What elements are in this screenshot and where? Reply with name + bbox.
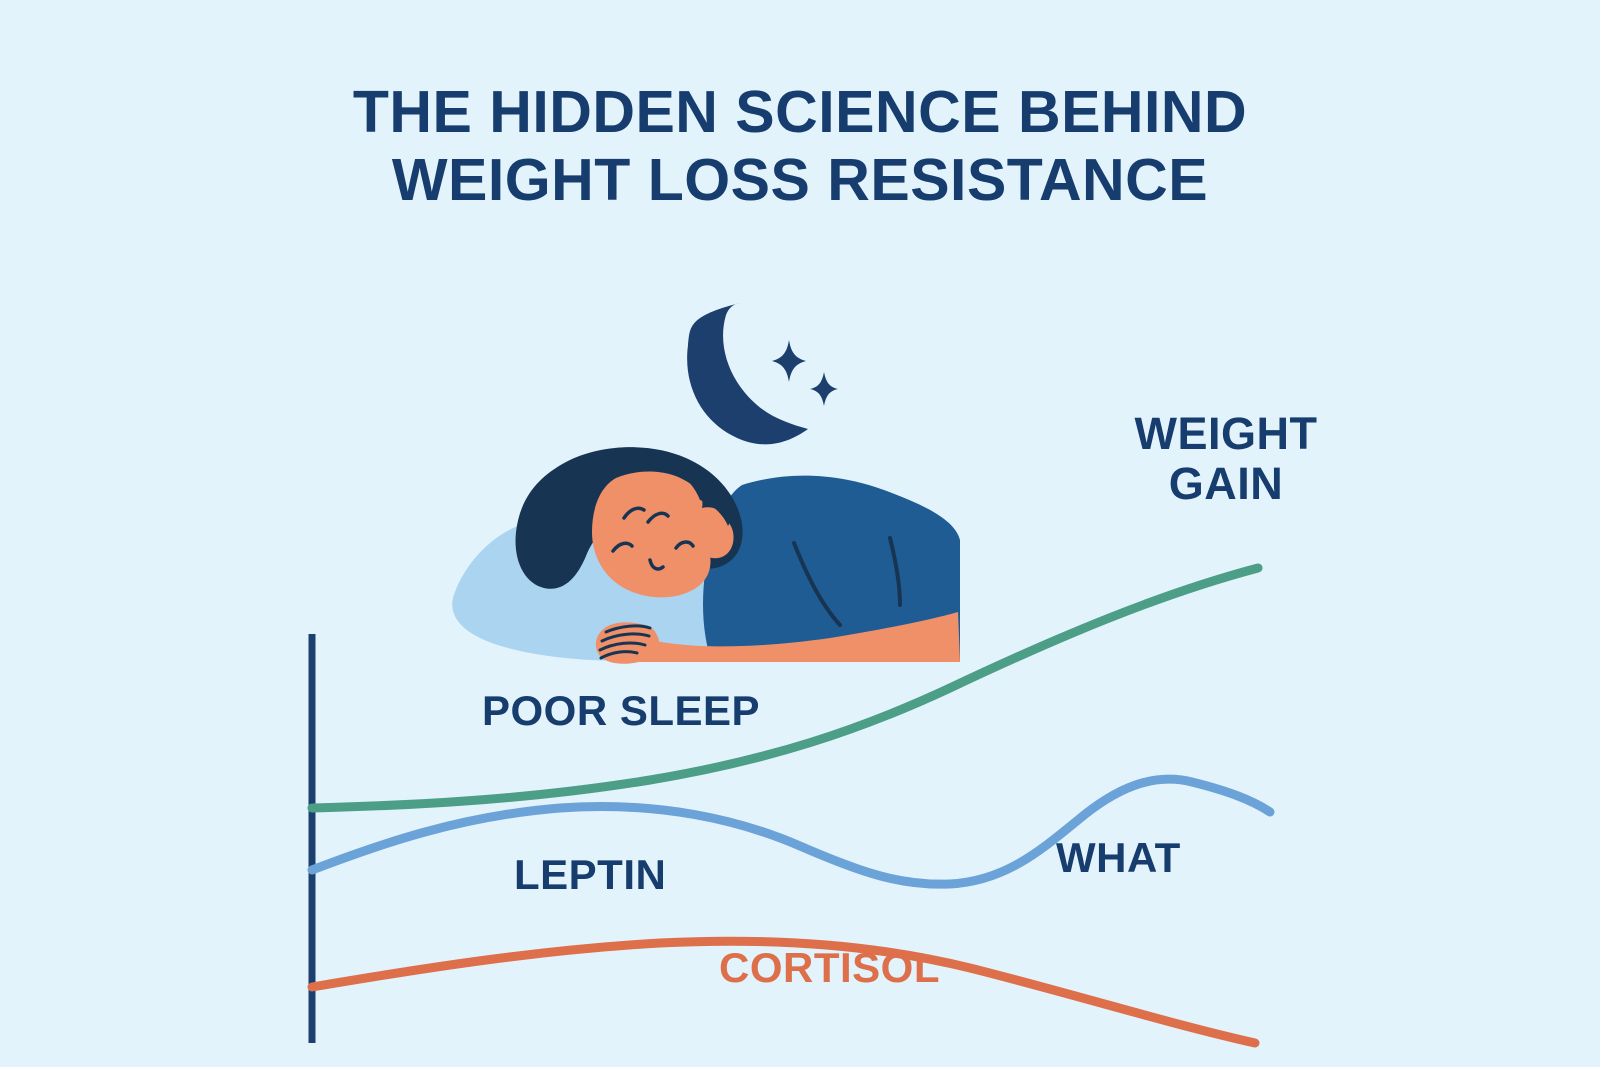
infographic-canvas: THE HIDDEN SCIENCE BEHIND WEIGHT LOSS RE… <box>0 0 1600 1067</box>
label-cortisol: CORTISOL <box>719 944 940 992</box>
label-weight-gain-line-2: GAIN <box>1108 459 1344 509</box>
label-what: WHAT <box>1056 834 1181 882</box>
four-point-star-icon-large <box>772 340 806 382</box>
label-poor-sleep: POOR SLEEP <box>482 687 760 735</box>
four-point-star-icon-small <box>810 372 838 406</box>
label-weight-gain: WEIGHT GAIN <box>1108 409 1344 510</box>
label-weight-gain-line-1: WEIGHT <box>1108 409 1344 459</box>
label-leptin: LEPTIN <box>514 851 666 899</box>
sleep-illustration <box>0 0 1600 1067</box>
